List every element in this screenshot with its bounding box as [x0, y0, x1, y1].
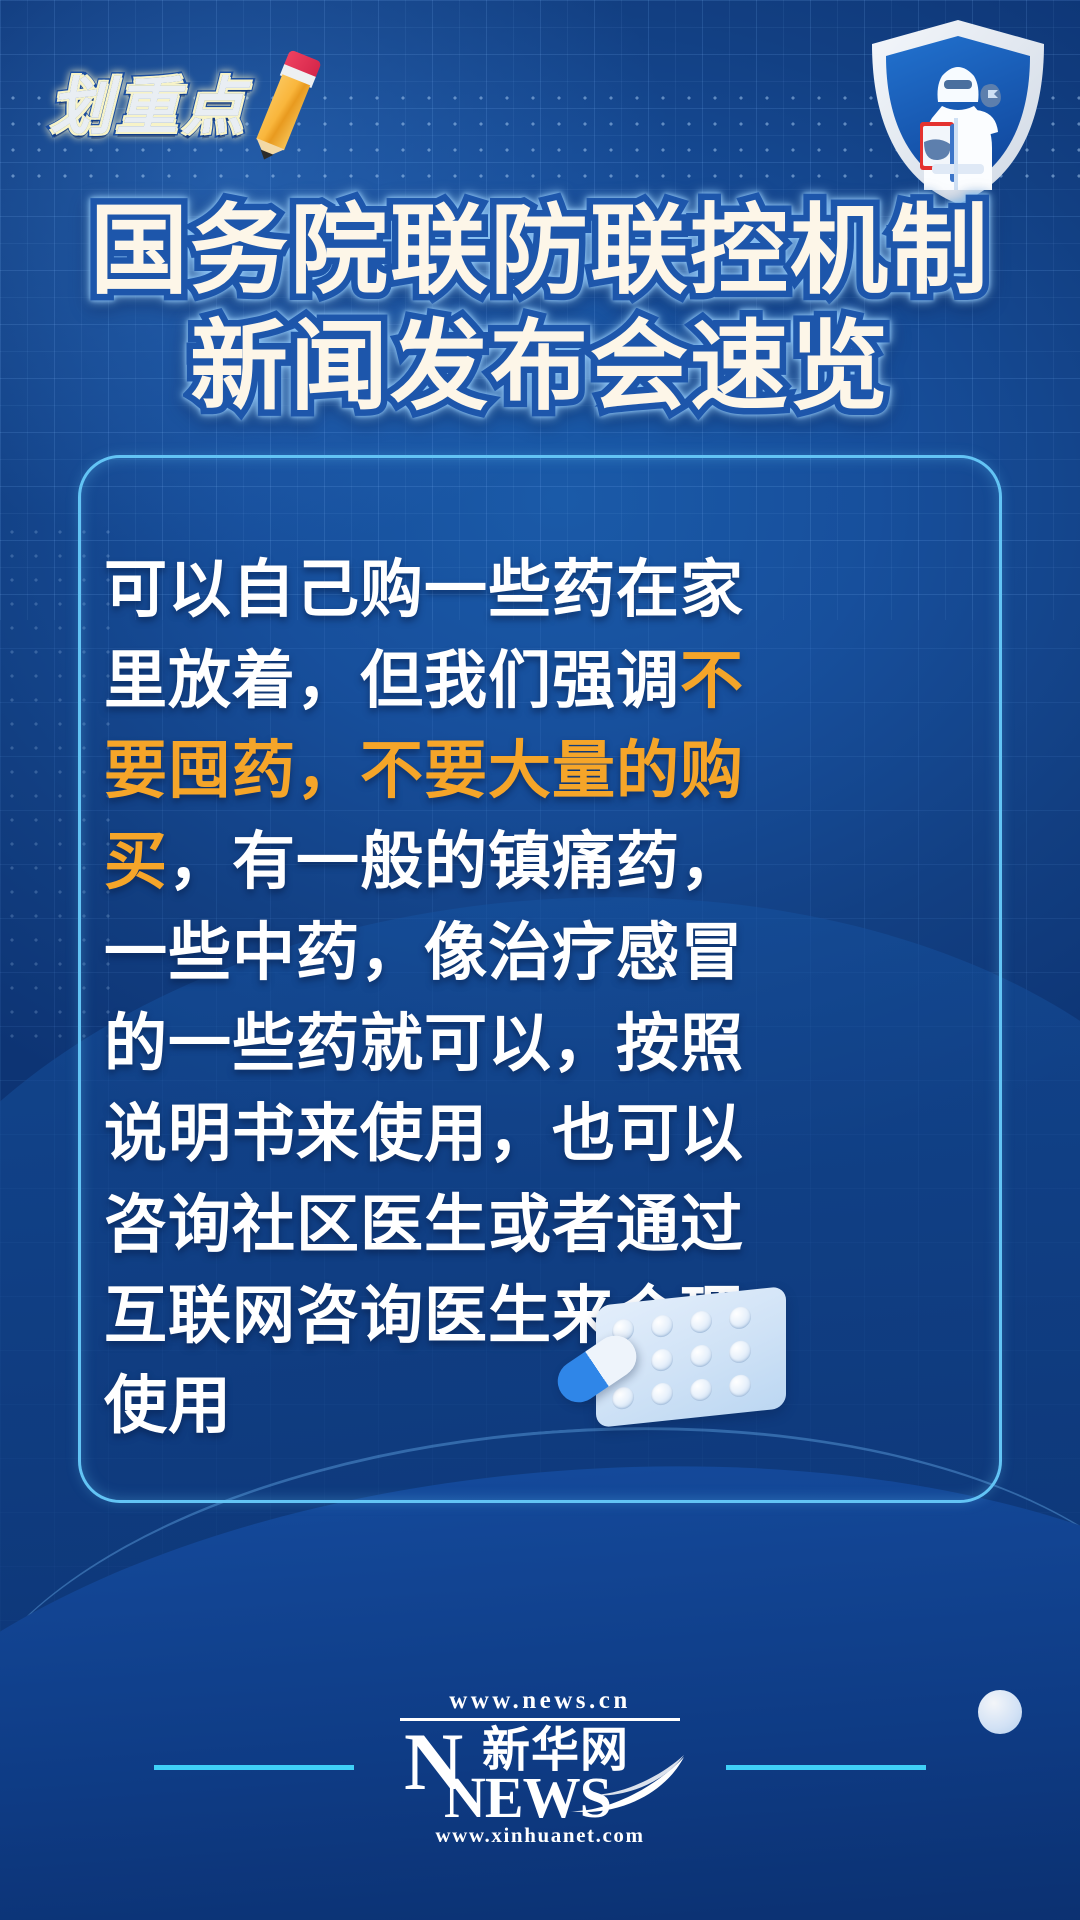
title-line-2: 新闻发布会速览	[0, 312, 1080, 422]
kicker-badge: 划重点	[50, 52, 318, 164]
xinhua-logo: www.news.cn N 新华网 NEWS www.xinhuanet.com	[390, 1687, 690, 1848]
shield-medical-worker-icon	[858, 14, 1058, 210]
quote-segment-plain-1: 可以自己购一些药在家里放着，但我们强调	[104, 555, 744, 716]
title-line-1: 国务院联防联控机制	[0, 196, 1080, 306]
poster-canvas: 划重点	[0, 0, 1080, 1920]
divider-left	[154, 1765, 354, 1770]
page-title: 国务院联防联控机制 新闻发布会速览	[0, 196, 1080, 422]
divider-right	[726, 1765, 926, 1770]
swoosh-icon	[568, 1755, 688, 1817]
kicker-label: 划重点	[50, 77, 248, 139]
footer-logo-bar: www.news.cn N 新华网 NEWS www.xinhuanet.com	[0, 1687, 1080, 1848]
pill-blister-pack-icon	[596, 1296, 786, 1426]
logo-url-top: www.news.cn	[449, 1687, 631, 1715]
